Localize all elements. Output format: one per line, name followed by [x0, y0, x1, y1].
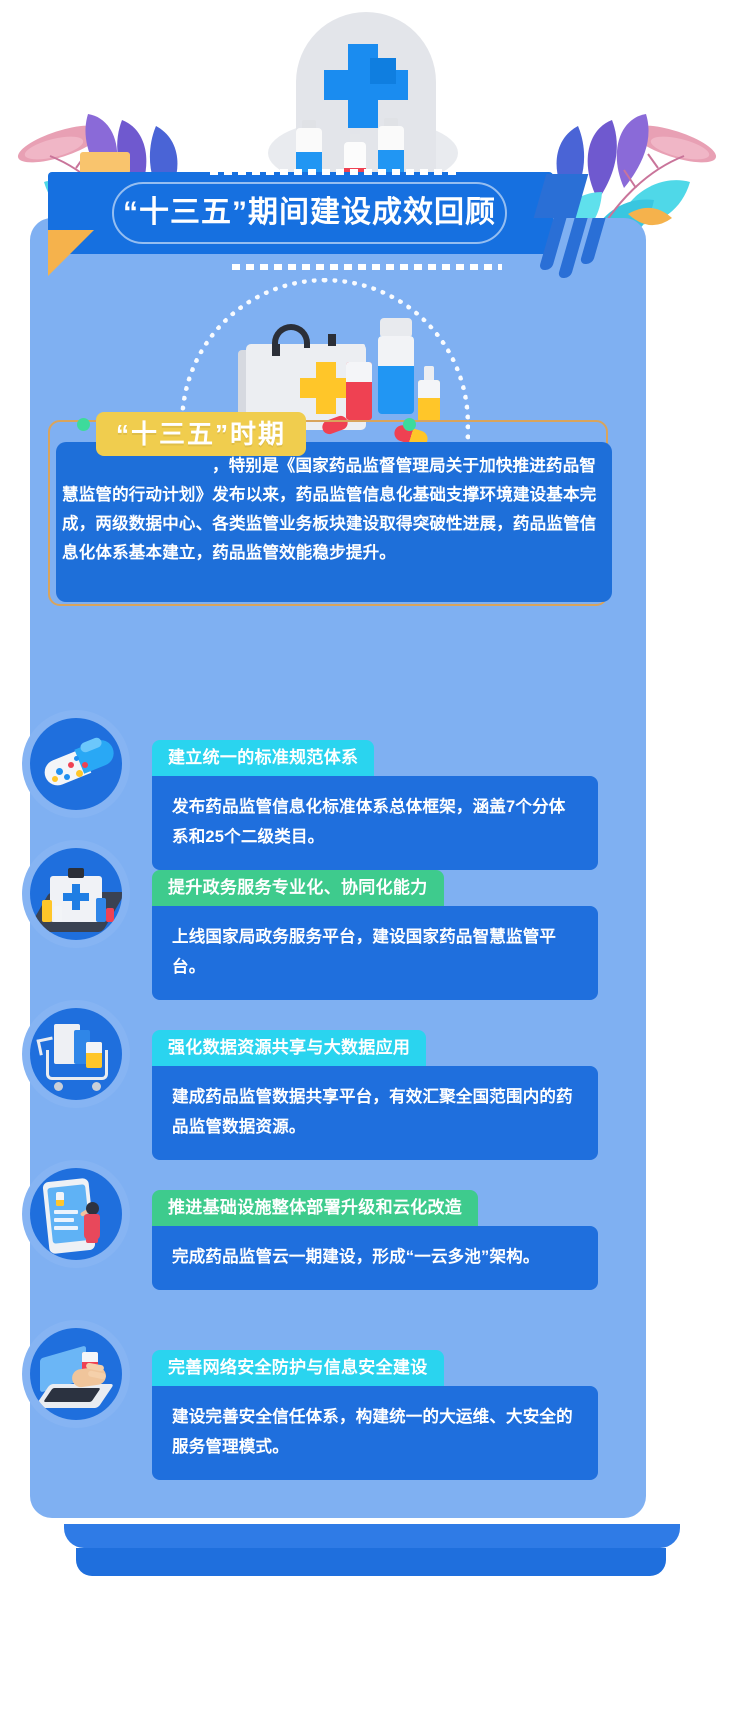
infographic-page: “十三五”期间建设成效回顾 “十三五”时期 ，特别是《国家药品监督管理局关于加快…: [0, 0, 729, 1728]
laptop-hand-medicine-icon: [22, 1320, 130, 1428]
dashed-line-bottom: [232, 264, 502, 270]
intro-period-badge: “十三五”时期: [96, 412, 306, 456]
green-dot-right: [403, 418, 416, 431]
card-1-body: 发布药品监管信息化标准体系总体框架，涵盖7个分体系和25个二级类目。: [152, 776, 598, 870]
footer-bar-lower: [76, 1548, 666, 1576]
card-3-title: 强化数据资源共享与大数据应用: [152, 1030, 426, 1066]
title-ribbon: “十三五”期间建设成效回顾: [0, 160, 729, 270]
clipboard-medicine-icon: [22, 840, 130, 948]
card-4-title: 推进基础设施整体部署升级和云化改造: [152, 1190, 478, 1226]
card-1-title: 建立统一的标准规范体系: [152, 740, 374, 776]
ribbon-tail: [540, 174, 620, 274]
card-5-body: 建设完善安全信任体系，构建统一的大运维、大安全的服务管理模式。: [152, 1386, 598, 1480]
intro-paragraph: ，特别是《国家药品监督管理局关于加快推进药品智慧监管的行动计划》发布以来，药品监…: [62, 452, 606, 568]
smartphone-user-icon: [22, 1160, 130, 1268]
page-title: “十三五”期间建设成效回顾: [112, 184, 507, 242]
dashed-line-top: [210, 169, 460, 175]
card-2-body: 上线国家局政务服务平台，建设国家药品智慧监管平台。: [152, 906, 598, 1000]
card-3-body: 建成药品监管数据共享平台，有效汇聚全国范围内的药品监管数据资源。: [152, 1066, 598, 1160]
card-5-title: 完善网络安全防护与信息安全建设: [152, 1350, 444, 1386]
ribbon-top-tab: [80, 152, 130, 174]
medical-cross-icon: [318, 44, 414, 128]
shopping-cart-medicine-icon: [22, 1000, 130, 1108]
card-4-body: 完成药品监管云一期建设，形成“一云多池”架构。: [152, 1226, 598, 1290]
card-2-title: 提升政务服务专业化、协同化能力: [152, 870, 444, 906]
green-dot-left: [77, 418, 90, 431]
footer-bar-upper: [64, 1524, 680, 1548]
capsule-pill-icon: [22, 710, 130, 818]
